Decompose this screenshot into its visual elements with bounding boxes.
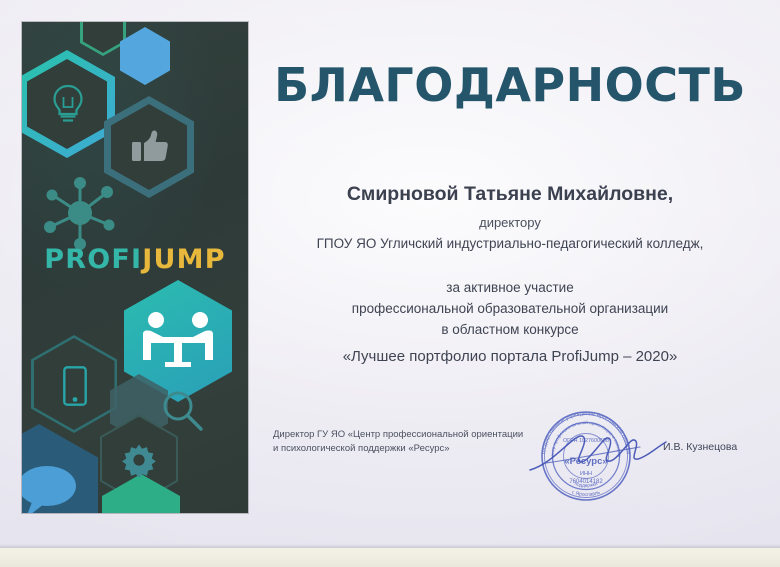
profijump-logo: PROFIJUMP <box>22 244 248 275</box>
magnifier-icon <box>158 386 208 436</box>
logo-profi: PROFI <box>44 244 142 275</box>
certificate-document: PROFIJUMP <box>0 0 780 567</box>
thumbs-up-icon <box>128 126 172 168</box>
brand-panel: PROFIJUMP <box>22 22 248 513</box>
signer-name: И.В. Кузнецова <box>663 441 737 453</box>
svg-text:г. Ярославль: г. Ярославль <box>571 489 602 498</box>
award-body: за активное участие профессиональной обр… <box>258 277 762 370</box>
body-line-1: за активное участие <box>258 277 762 298</box>
signer-title: Директор ГУ ЯО «Центр профессиональной о… <box>273 428 523 456</box>
recipient-name: Смирновой Татьяне Михайловне, <box>258 183 762 206</box>
handwritten-signature <box>528 430 668 478</box>
recipient-organization: ГПОУ ЯО Угличский индустриально-педагоги… <box>258 236 762 251</box>
signer-title-line-2: и психологической поддержки «Ресурс» <box>273 442 523 456</box>
award-title-line: «Лучшее портфолио портала ProfiJump – 20… <box>258 340 762 370</box>
lightbulb-icon <box>47 80 89 128</box>
body-line-3: в областном конкурсе <box>258 319 762 340</box>
network-nodes-icon <box>37 172 123 254</box>
signer-title-line-1: Директор ГУ ЯО «Центр профессиональной о… <box>273 428 523 442</box>
body-line-2: профессиональной образовательной организ… <box>258 298 762 319</box>
speech-bubble-icon <box>22 462 84 513</box>
decorative-hexagon-blue <box>120 27 170 85</box>
page-bottom-strip <box>0 548 780 567</box>
page-title: БЛАГОДАРНОСТЬ <box>260 58 760 112</box>
logo-jump: JUMP <box>142 244 225 275</box>
svg-text:7604014182: 7604014182 <box>569 479 603 485</box>
smartphone-icon <box>59 364 91 408</box>
gear-icon <box>120 441 158 479</box>
recipient-role: директору <box>258 215 762 230</box>
people-at-table-icon <box>138 308 218 374</box>
